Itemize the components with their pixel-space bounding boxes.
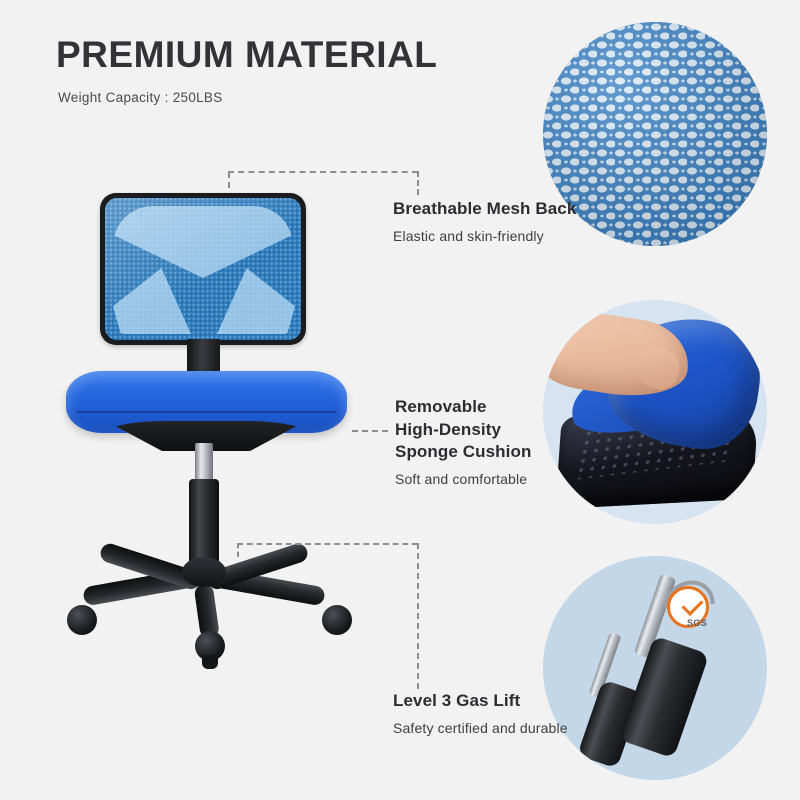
infographic-canvas: PREMIUM MATERIAL Weight Capacity : 250LB… bbox=[0, 0, 800, 800]
caster-wheel-right bbox=[322, 605, 352, 635]
leader-line-mesh-horizontal bbox=[228, 171, 418, 173]
cushion-photo bbox=[543, 300, 767, 524]
caster-fork-center bbox=[202, 655, 218, 669]
feature-sponge-cushion: Removable High-Density Sponge Cushion So… bbox=[395, 396, 531, 487]
leader-line-mesh-stub bbox=[228, 172, 230, 188]
feature-gaslift-description: Safety certified and durable bbox=[393, 720, 568, 736]
feature-mesh-description: Elastic and skin-friendly bbox=[393, 228, 576, 244]
chair-backrest-mesh bbox=[105, 198, 301, 340]
check-icon bbox=[682, 594, 704, 616]
gas-lift-photo: SGS bbox=[543, 556, 767, 780]
office-chair-illustration bbox=[40, 175, 380, 695]
mesh-fabric-photo bbox=[543, 22, 767, 246]
mesh-fabric-shading bbox=[543, 22, 767, 246]
feature-gaslift-title: Level 3 Gas Lift bbox=[393, 690, 568, 713]
feature-cushion-title: Removable High-Density Sponge Cushion bbox=[395, 396, 531, 464]
leader-line-mesh-drop bbox=[417, 171, 419, 195]
gas-lift-cylinder-front bbox=[619, 636, 710, 759]
sgs-certification-icon: SGS bbox=[661, 584, 717, 632]
page-title: PREMIUM MATERIAL bbox=[56, 36, 437, 73]
chair-backrest-frame bbox=[100, 193, 306, 345]
feature-gas-lift: Level 3 Gas Lift Safety certified and du… bbox=[393, 690, 568, 736]
seat-seam bbox=[76, 411, 337, 413]
mesh-highlight bbox=[105, 198, 301, 340]
leader-line-cushion-horizontal bbox=[352, 430, 388, 432]
feature-mesh-title: Breathable Mesh Back bbox=[393, 198, 576, 221]
feature-mesh-back: Breathable Mesh Back Elastic and skin-fr… bbox=[393, 198, 576, 244]
leader-line-gaslift-stub bbox=[237, 543, 239, 557]
leader-line-gaslift-drop bbox=[417, 543, 419, 689]
feature-cushion-description: Soft and comfortable bbox=[395, 471, 531, 487]
leader-line-gaslift-horizontal bbox=[237, 543, 418, 545]
base-hub bbox=[182, 557, 226, 587]
caster-wheel-left bbox=[67, 605, 97, 635]
weight-capacity-label: Weight Capacity : 250LBS bbox=[58, 90, 223, 105]
sgs-label: SGS bbox=[687, 618, 707, 628]
